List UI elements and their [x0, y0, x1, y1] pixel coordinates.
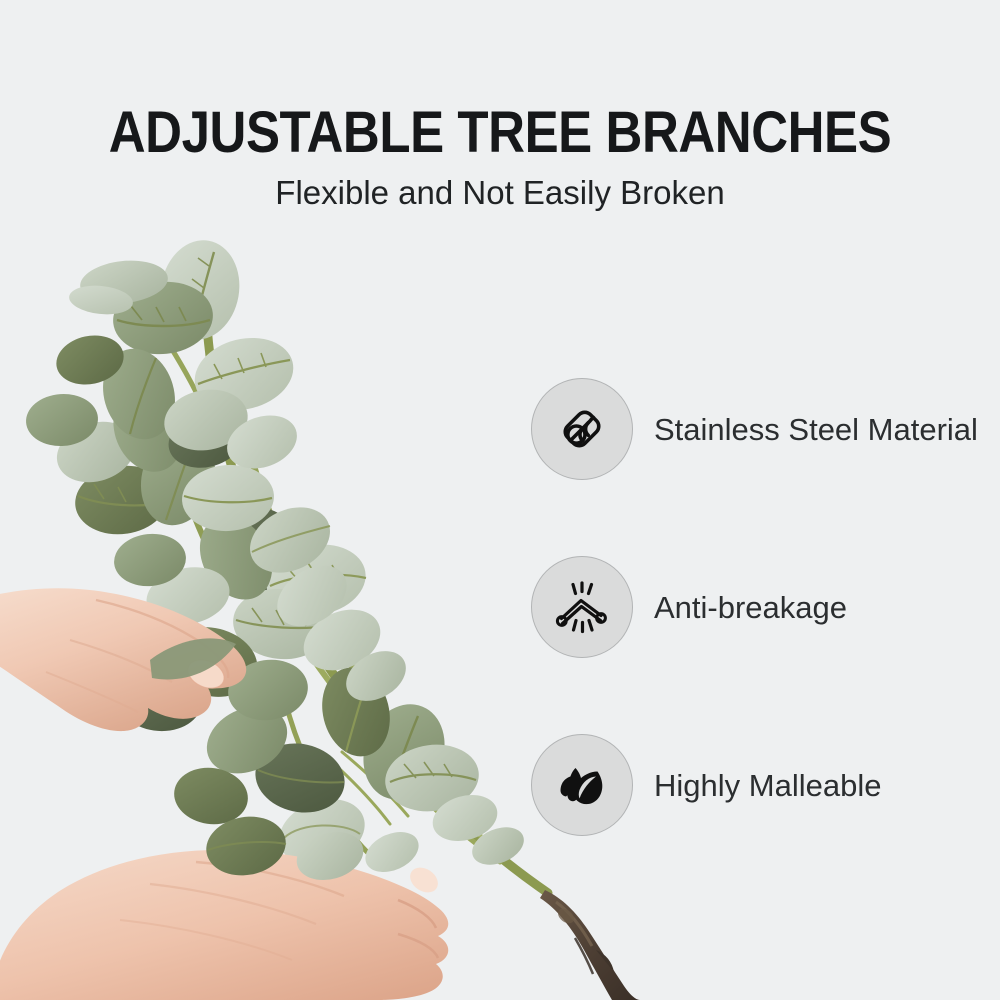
feature-list: Stainless Steel Material — [531, 378, 978, 836]
steel-rod-icon — [554, 401, 610, 457]
header: ADJUSTABLE TREE BRANCHES Flexible and No… — [0, 0, 1000, 209]
product-feature-graphic: ADJUSTABLE TREE BRANCHES Flexible and No… — [0, 0, 1000, 1000]
feature-item-anti-breakage: Anti-breakage — [531, 556, 978, 658]
feature-badge — [531, 556, 633, 658]
page-title: ADJUSTABLE TREE BRANCHES — [60, 0, 940, 162]
feature-item-stainless-steel: Stainless Steel Material — [531, 378, 978, 480]
lower-hand — [0, 850, 448, 1000]
feature-badge — [531, 734, 633, 836]
woody-branch-tip — [540, 890, 640, 1000]
leaves-icon — [556, 759, 608, 811]
bending-rod-icon — [553, 578, 611, 636]
feature-item-highly-malleable: Highly Malleable — [531, 734, 978, 836]
page-subtitle: Flexible and Not Easily Broken — [0, 162, 1000, 209]
feature-badge — [531, 378, 633, 480]
feature-label: Anti-breakage — [654, 592, 847, 623]
feature-label: Stainless Steel Material — [654, 414, 978, 445]
feature-label: Highly Malleable — [654, 770, 881, 801]
